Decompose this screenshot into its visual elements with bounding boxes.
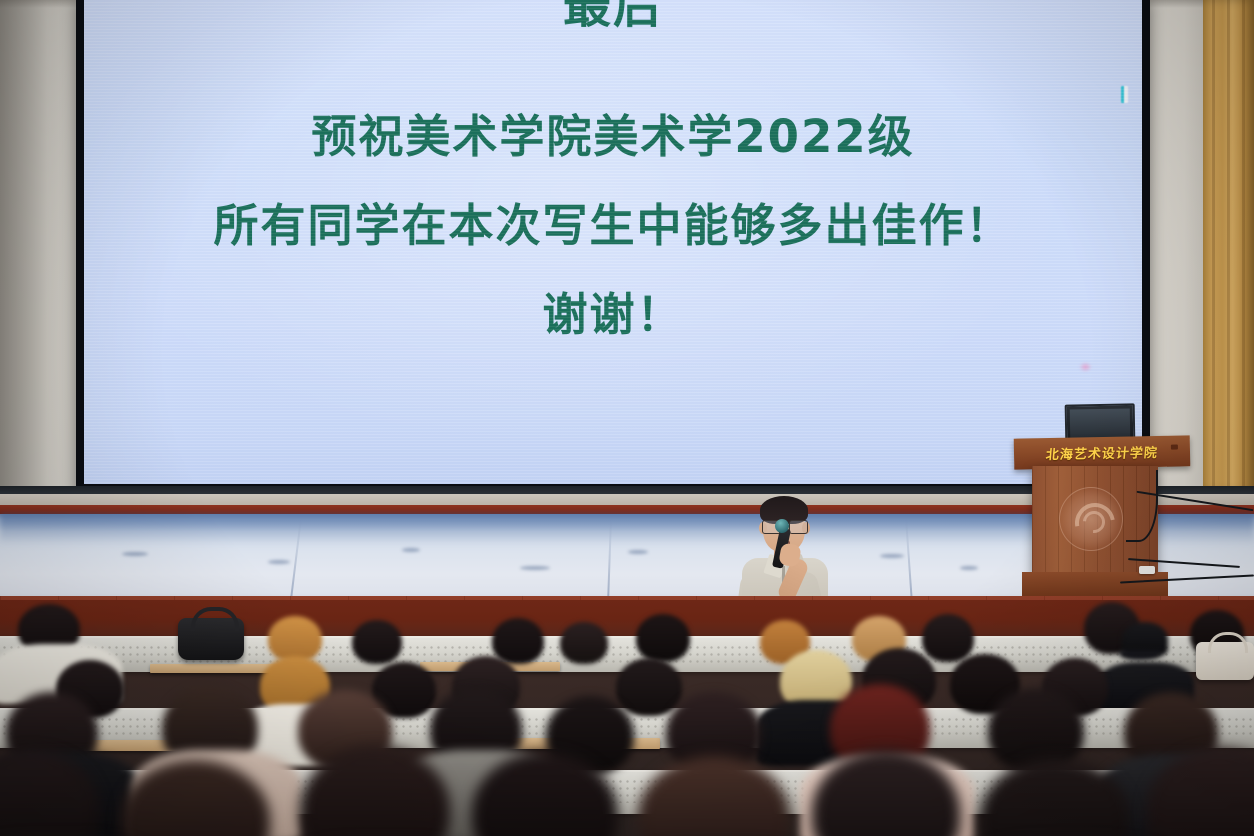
black-handbag <box>178 618 244 660</box>
white-handbag <box>1196 642 1254 680</box>
slide-line-2: 所有同学在本次写生中能够多出佳作！ <box>213 189 1012 254</box>
presentation-slide: 最后 预祝美术学院美术学2022级 所有同学在本次写生中能够多出佳作！ 谢谢！ <box>84 0 1142 484</box>
spiral-seal-emblem-icon <box>1059 487 1123 551</box>
wall-shadow-left <box>0 0 86 520</box>
slide-line-1: 预祝美术学院美术学2022级 <box>311 100 914 165</box>
stage-curtain <box>1203 0 1254 492</box>
podium-nameplate-text: 北海艺术设计学院 <box>1045 442 1159 463</box>
projection-screen: 最后 预祝美术学院美术学2022级 所有同学在本次写生中能够多出佳作！ 谢谢！ <box>84 0 1142 484</box>
auditorium-photo: 最后 预祝美术学院美术学2022级 所有同学在本次写生中能够多出佳作！ 谢谢！ … <box>0 0 1254 836</box>
desk <box>150 664 280 673</box>
slide-line-3: 谢谢！ <box>542 278 683 343</box>
podium-nameplate-peg <box>1171 445 1178 450</box>
slide-title: 最后 <box>563 0 663 30</box>
podium-base <box>1022 572 1168 598</box>
floor-power-plug <box>1139 566 1155 574</box>
podium-nameplate: 北海艺术设计学院 <box>1014 435 1191 469</box>
projector-pink-artifact <box>1079 362 1092 372</box>
projector-cursor-artifact <box>1121 86 1128 103</box>
audience-area <box>0 600 1254 836</box>
